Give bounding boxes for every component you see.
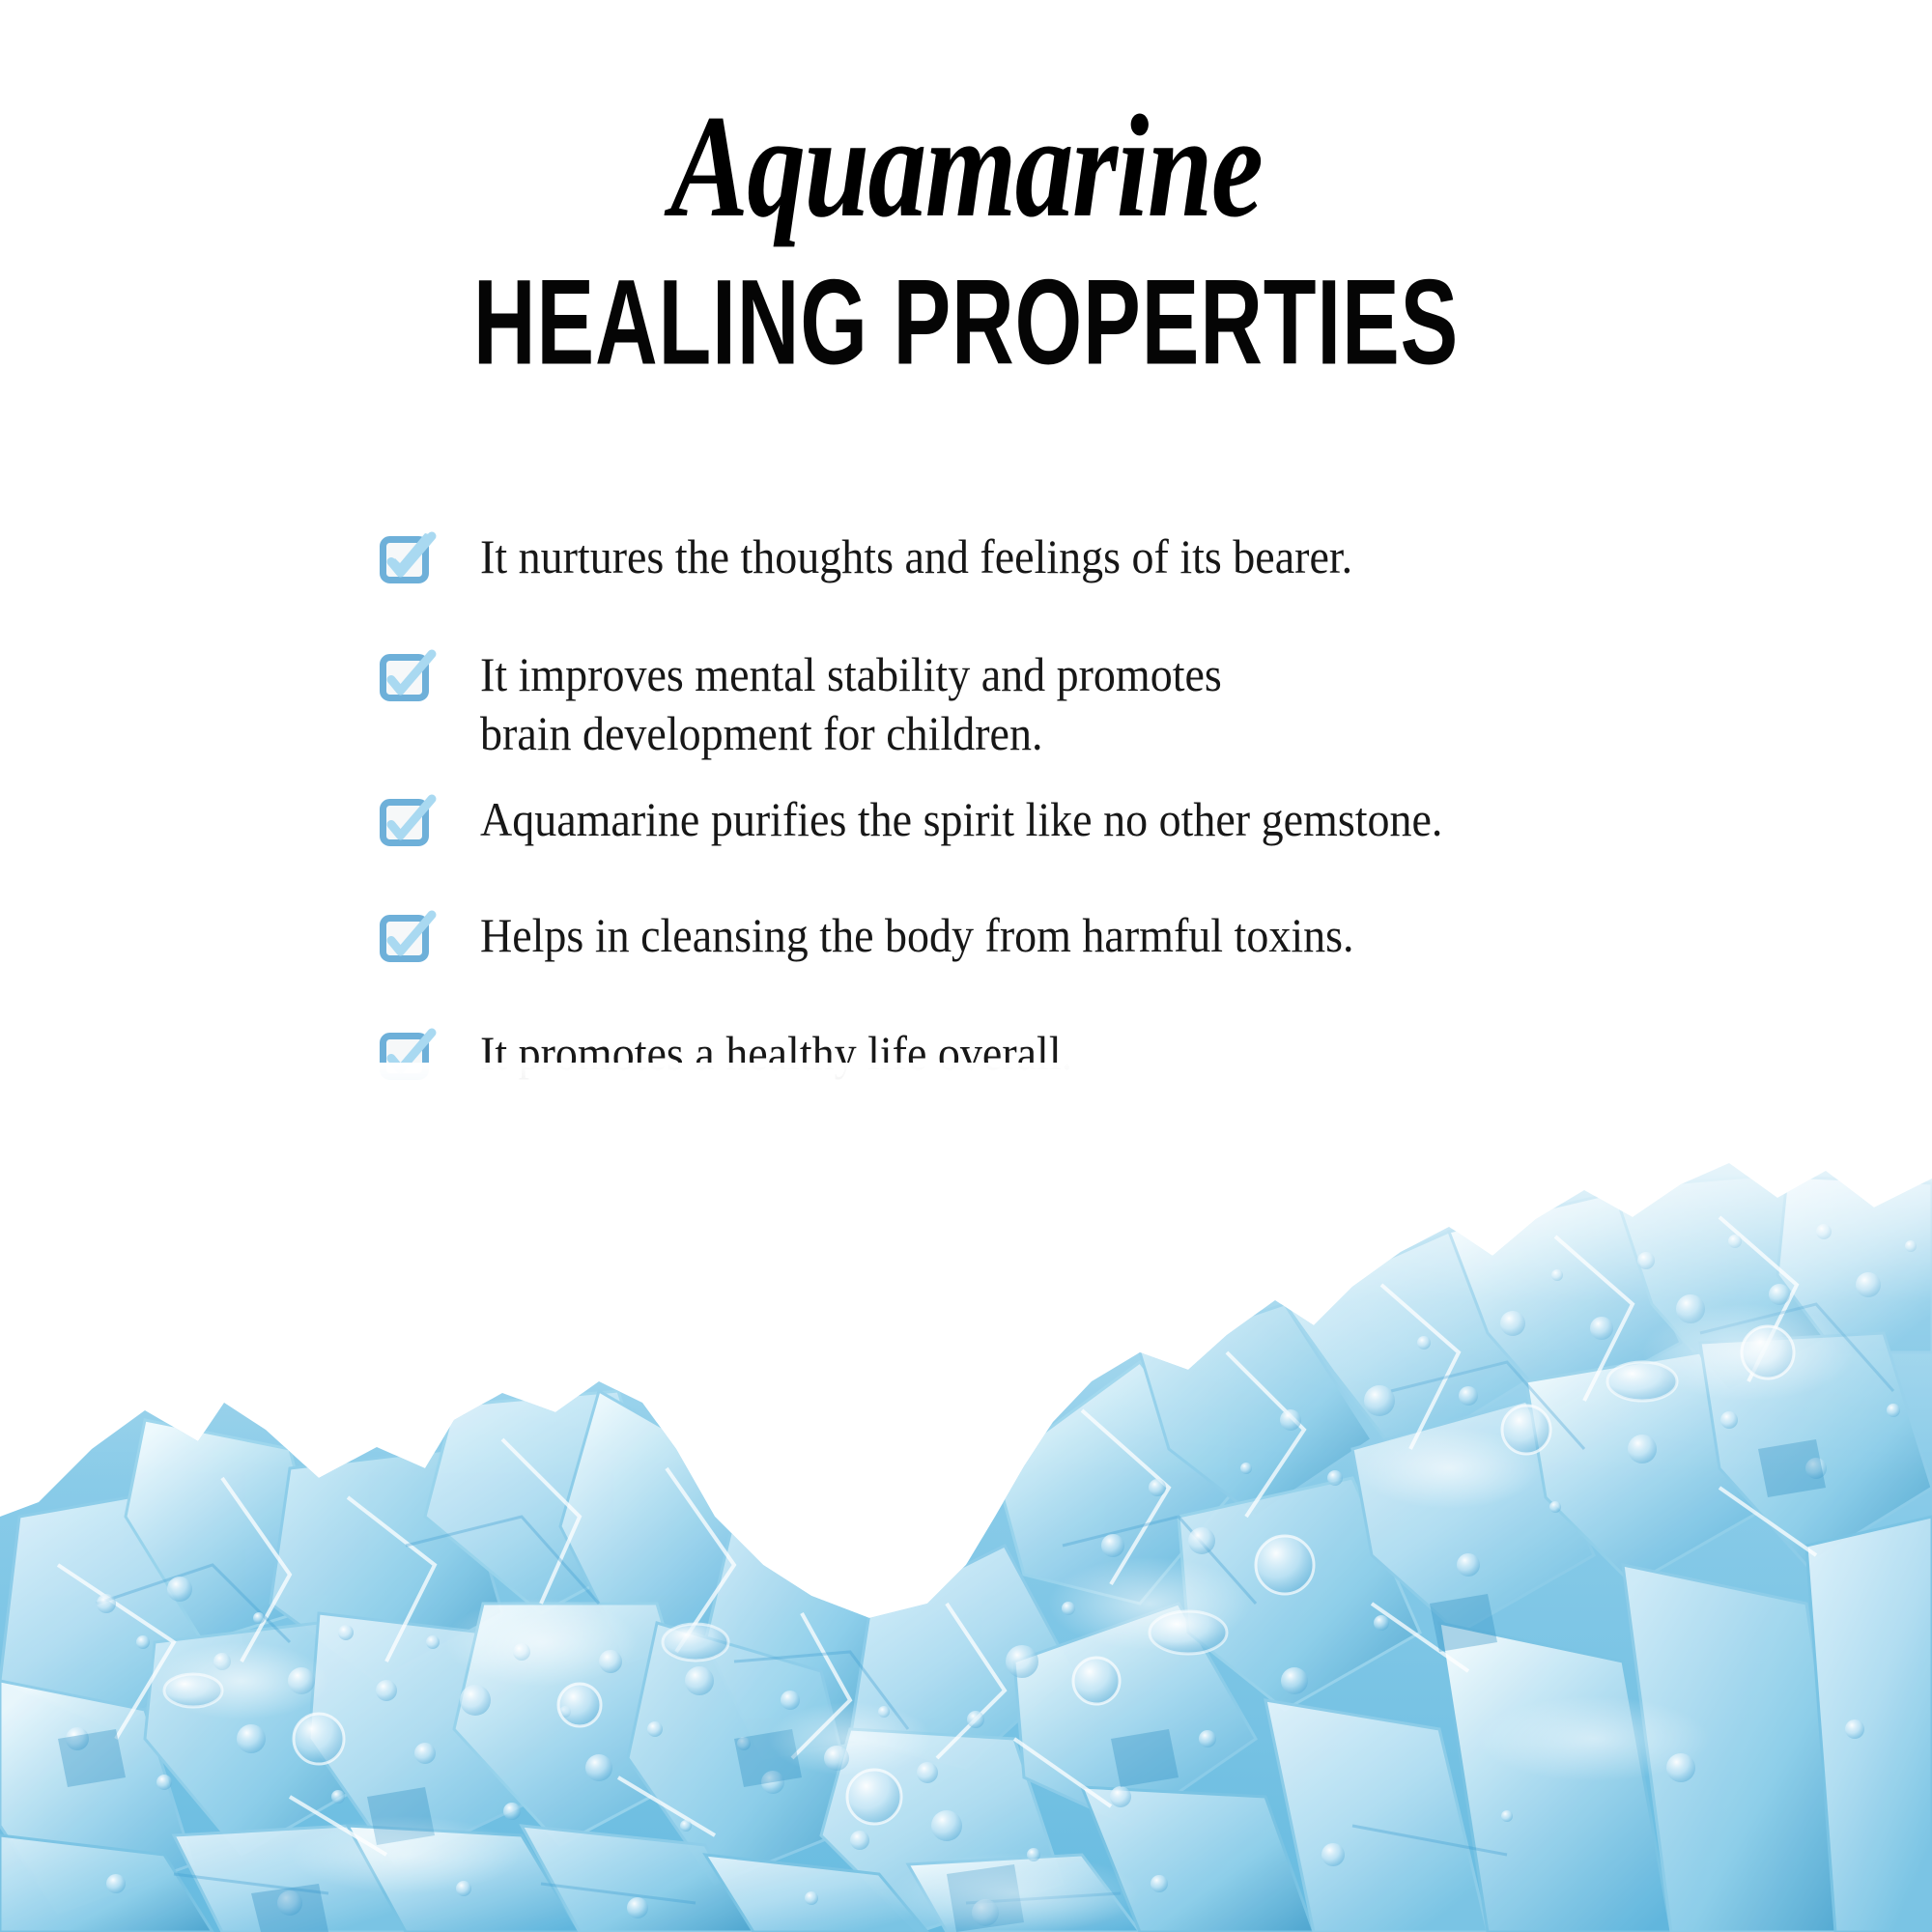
page-title: Aquamarine (193, 0, 1739, 240)
ice-cubes-photo (0, 1063, 1932, 1932)
page-subtitle: HEALING PROPERTIES (232, 240, 1700, 383)
list-item: It nurtures the thoughts and feelings of… (380, 527, 1790, 587)
list-item: Helps in cleansing the body from harmful… (380, 906, 1790, 966)
list-item-text: Helps in cleansing the body from harmful… (480, 906, 1354, 965)
list-item-text: Aquamarine purifies the spirit like no o… (480, 790, 1442, 849)
checked-checkbox-icon (380, 914, 436, 966)
checked-checkbox-icon (380, 653, 436, 705)
healing-properties-list: It nurtures the thoughts and feelings of… (380, 527, 1790, 1084)
checked-checkbox-icon (380, 798, 436, 850)
list-item-text: It improves mental stability and promote… (480, 645, 1222, 763)
list-item-text: It nurtures the thoughts and feelings of… (480, 527, 1352, 586)
list-item: Aquamarine purifies the spirit like no o… (380, 790, 1790, 850)
poster-canvas: Aquamarine HEALING PROPERTIES It nurture… (0, 0, 1932, 1932)
header: Aquamarine HEALING PROPERTIES (0, 0, 1932, 375)
checked-checkbox-icon (380, 535, 436, 587)
list-item: It improves mental stability and promote… (380, 645, 1790, 763)
